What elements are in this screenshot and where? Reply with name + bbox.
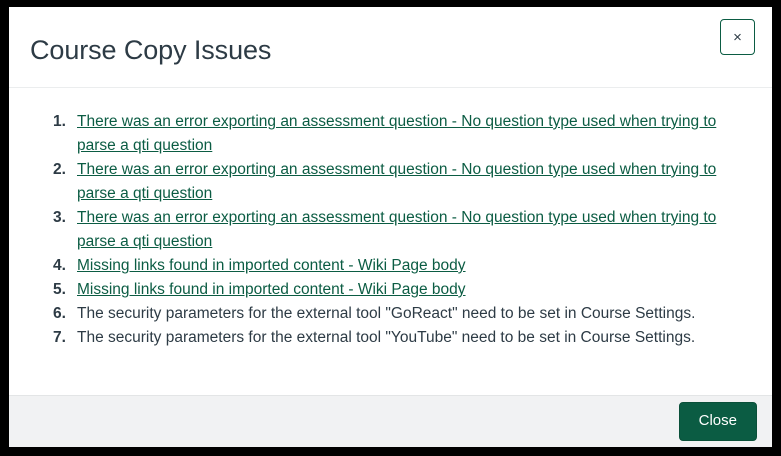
close-icon: ×	[733, 30, 742, 45]
issue-link[interactable]: Missing links found in imported content …	[77, 257, 466, 274]
issues-list: There was an error exporting an assessme…	[9, 88, 772, 350]
issue-link[interactable]: There was an error exporting an assessme…	[77, 161, 716, 202]
list-item[interactable]: Missing links found in imported content …	[53, 254, 742, 278]
dialog-body: There was an error exporting an assessme…	[9, 88, 772, 395]
dialog-footer: Close	[9, 395, 772, 447]
list-item[interactable]: There was an error exporting an assessme…	[53, 158, 742, 206]
issue-text: The security parameters for the external…	[77, 329, 695, 346]
issue-link[interactable]: There was an error exporting an assessme…	[77, 209, 716, 250]
list-item[interactable]: There was an error exporting an assessme…	[53, 206, 742, 254]
close-button[interactable]: Close	[679, 402, 757, 441]
page-title: Course Copy Issues	[30, 35, 271, 66]
list-item[interactable]: There was an error exporting an assessme…	[53, 110, 742, 158]
list-item: The security parameters for the external…	[53, 326, 742, 350]
issue-link[interactable]: There was an error exporting an assessme…	[77, 113, 716, 154]
close-icon-button[interactable]: ×	[720, 19, 755, 55]
issue-text: The security parameters for the external…	[77, 305, 695, 322]
list-item: The security parameters for the external…	[53, 302, 742, 326]
dialog-header: Course Copy Issues ×	[9, 7, 772, 88]
course-copy-issues-dialog: Course Copy Issues × There was an error …	[0, 0, 781, 456]
issue-link[interactable]: Missing links found in imported content …	[77, 281, 466, 298]
list-item[interactable]: Missing links found in imported content …	[53, 278, 742, 302]
